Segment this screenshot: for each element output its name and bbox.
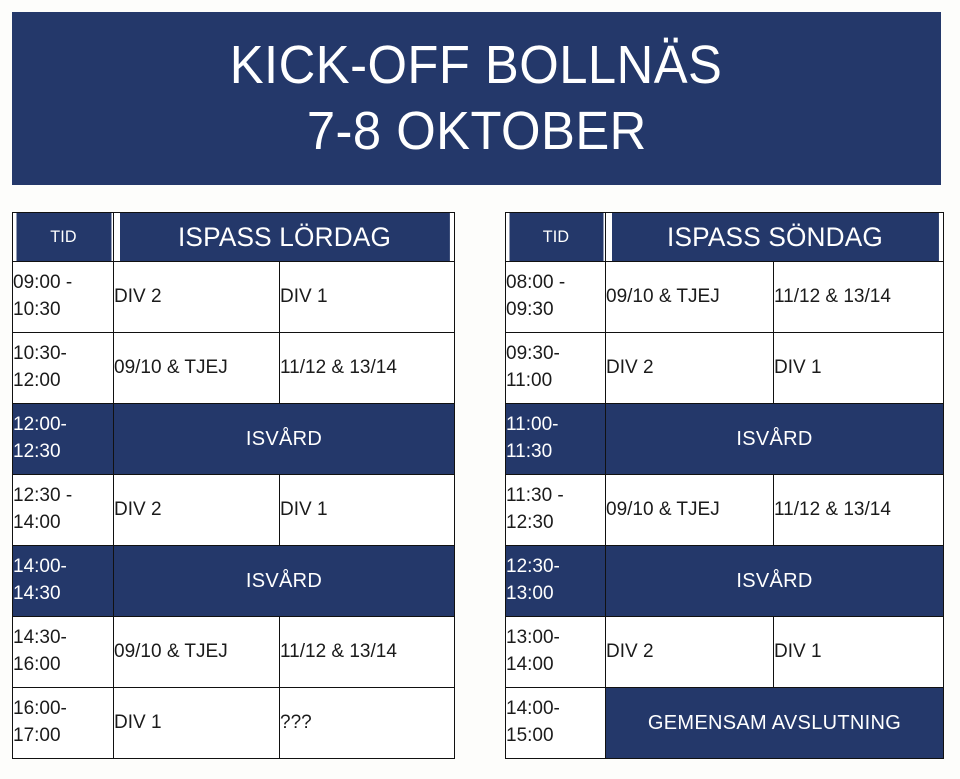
activity-cell: DIV 1 (774, 617, 944, 688)
activity-cell: 11/12 & 13/14 (774, 475, 944, 546)
schedule-table-sunday: TID ISPASS SÖNDAG 08:00 - 09:3009/10 & T… (505, 212, 944, 759)
time-slot-cell: 12:30 - 14:00 (13, 475, 114, 546)
table-row: 10:30- 12:0009/10 & TJEJ11/12 & 13/14 (13, 333, 455, 404)
activity-cell: DIV 1 (280, 475, 455, 546)
time-slot-cell: 14:00- 14:30 (13, 546, 114, 617)
time-slot-cell: 08:00 - 09:30 (506, 262, 606, 333)
activity-cell: DIV 2 (606, 333, 774, 404)
merged-activity-cell: ISVÅRD (606, 546, 944, 617)
time-slot-cell: 09:00 - 10:30 (13, 262, 114, 333)
table-header-row: TID ISPASS LÖRDAG (13, 213, 455, 262)
schedule-body-sunday: 08:00 - 09:3009/10 & TJEJ11/12 & 13/1409… (506, 262, 944, 759)
activity-cell: DIV 1 (774, 333, 944, 404)
activity-cell: 09/10 & TJEJ (114, 333, 280, 404)
table-row: 14:30- 16:0009/10 & TJEJ11/12 & 13/14 (13, 617, 455, 688)
column-header-day: ISPASS SÖNDAG (611, 213, 939, 262)
table-row: 11:30 - 12:3009/10 & TJEJ11/12 & 13/14 (506, 475, 944, 546)
table-row: 09:30- 11:00DIV 2DIV 1 (506, 333, 944, 404)
activity-cell: 11/12 & 13/14 (280, 617, 455, 688)
activity-cell: DIV 1 (280, 262, 455, 333)
schedule-body-saturday: 09:00 - 10:30DIV 2DIV 110:30- 12:0009/10… (13, 262, 455, 759)
activity-cell: 11/12 & 13/14 (774, 262, 944, 333)
table-row: 14:00- 15:00GEMENSAM AVSLUTNING (506, 688, 944, 759)
banner-title-line-2: 7-8 OKTOBER (307, 99, 647, 165)
merged-activity-cell: ISVÅRD (114, 546, 455, 617)
column-header-time: TID (508, 213, 603, 262)
table-row: 13:00- 14:00DIV 2DIV 1 (506, 617, 944, 688)
time-slot-cell: 12:30- 13:00 (506, 546, 606, 617)
activity-cell: 11/12 & 13/14 (280, 333, 455, 404)
table-row: 11:00- 11:30ISVÅRD (506, 404, 944, 475)
time-slot-cell: 16:00- 17:00 (13, 688, 114, 759)
time-slot-cell: 14:00- 15:00 (506, 688, 606, 759)
table-row: 12:30 - 14:00DIV 2DIV 1 (13, 475, 455, 546)
activity-cell: DIV 2 (606, 617, 774, 688)
activity-cell: 09/10 & TJEJ (606, 475, 774, 546)
schedule-table-saturday: TID ISPASS LÖRDAG 09:00 - 10:30DIV 2DIV … (12, 212, 455, 759)
merged-activity-cell: ISVÅRD (606, 404, 944, 475)
activity-cell: 09/10 & TJEJ (606, 262, 774, 333)
time-slot-cell: 12:00- 12:30 (13, 404, 114, 475)
activity-cell: DIV 1 (114, 688, 280, 759)
table-row: 14:00- 14:30ISVÅRD (13, 546, 455, 617)
table-row: 12:30- 13:00ISVÅRD (506, 546, 944, 617)
time-slot-cell: 14:30- 16:00 (13, 617, 114, 688)
activity-cell: 09/10 & TJEJ (114, 617, 280, 688)
time-slot-cell: 11:30 - 12:30 (506, 475, 606, 546)
merged-activity-cell: ISVÅRD (114, 404, 455, 475)
merged-activity-cell: GEMENSAM AVSLUTNING (606, 688, 944, 759)
time-slot-cell: 09:30- 11:00 (506, 333, 606, 404)
time-slot-cell: 11:00- 11:30 (506, 404, 606, 475)
table-row: 12:00- 12:30ISVÅRD (13, 404, 455, 475)
banner-title-line-1: KICK-OFF BOLLNÄS (230, 33, 723, 99)
activity-cell: DIV 2 (114, 262, 280, 333)
table-row: 09:00 - 10:30DIV 2DIV 1 (13, 262, 455, 333)
event-banner: KICK-OFF BOLLNÄS 7-8 OKTOBER (12, 12, 941, 185)
table-header-row: TID ISPASS SÖNDAG (506, 213, 944, 262)
activity-cell: DIV 2 (114, 475, 280, 546)
time-slot-cell: 10:30- 12:00 (13, 333, 114, 404)
table-row: 08:00 - 09:3009/10 & TJEJ11/12 & 13/14 (506, 262, 944, 333)
column-header-time: TID (15, 213, 111, 262)
column-header-day: ISPASS LÖRDAG (119, 213, 450, 262)
activity-cell: ??? (280, 688, 455, 759)
time-slot-cell: 13:00- 14:00 (506, 617, 606, 688)
table-row: 16:00- 17:00DIV 1??? (13, 688, 455, 759)
